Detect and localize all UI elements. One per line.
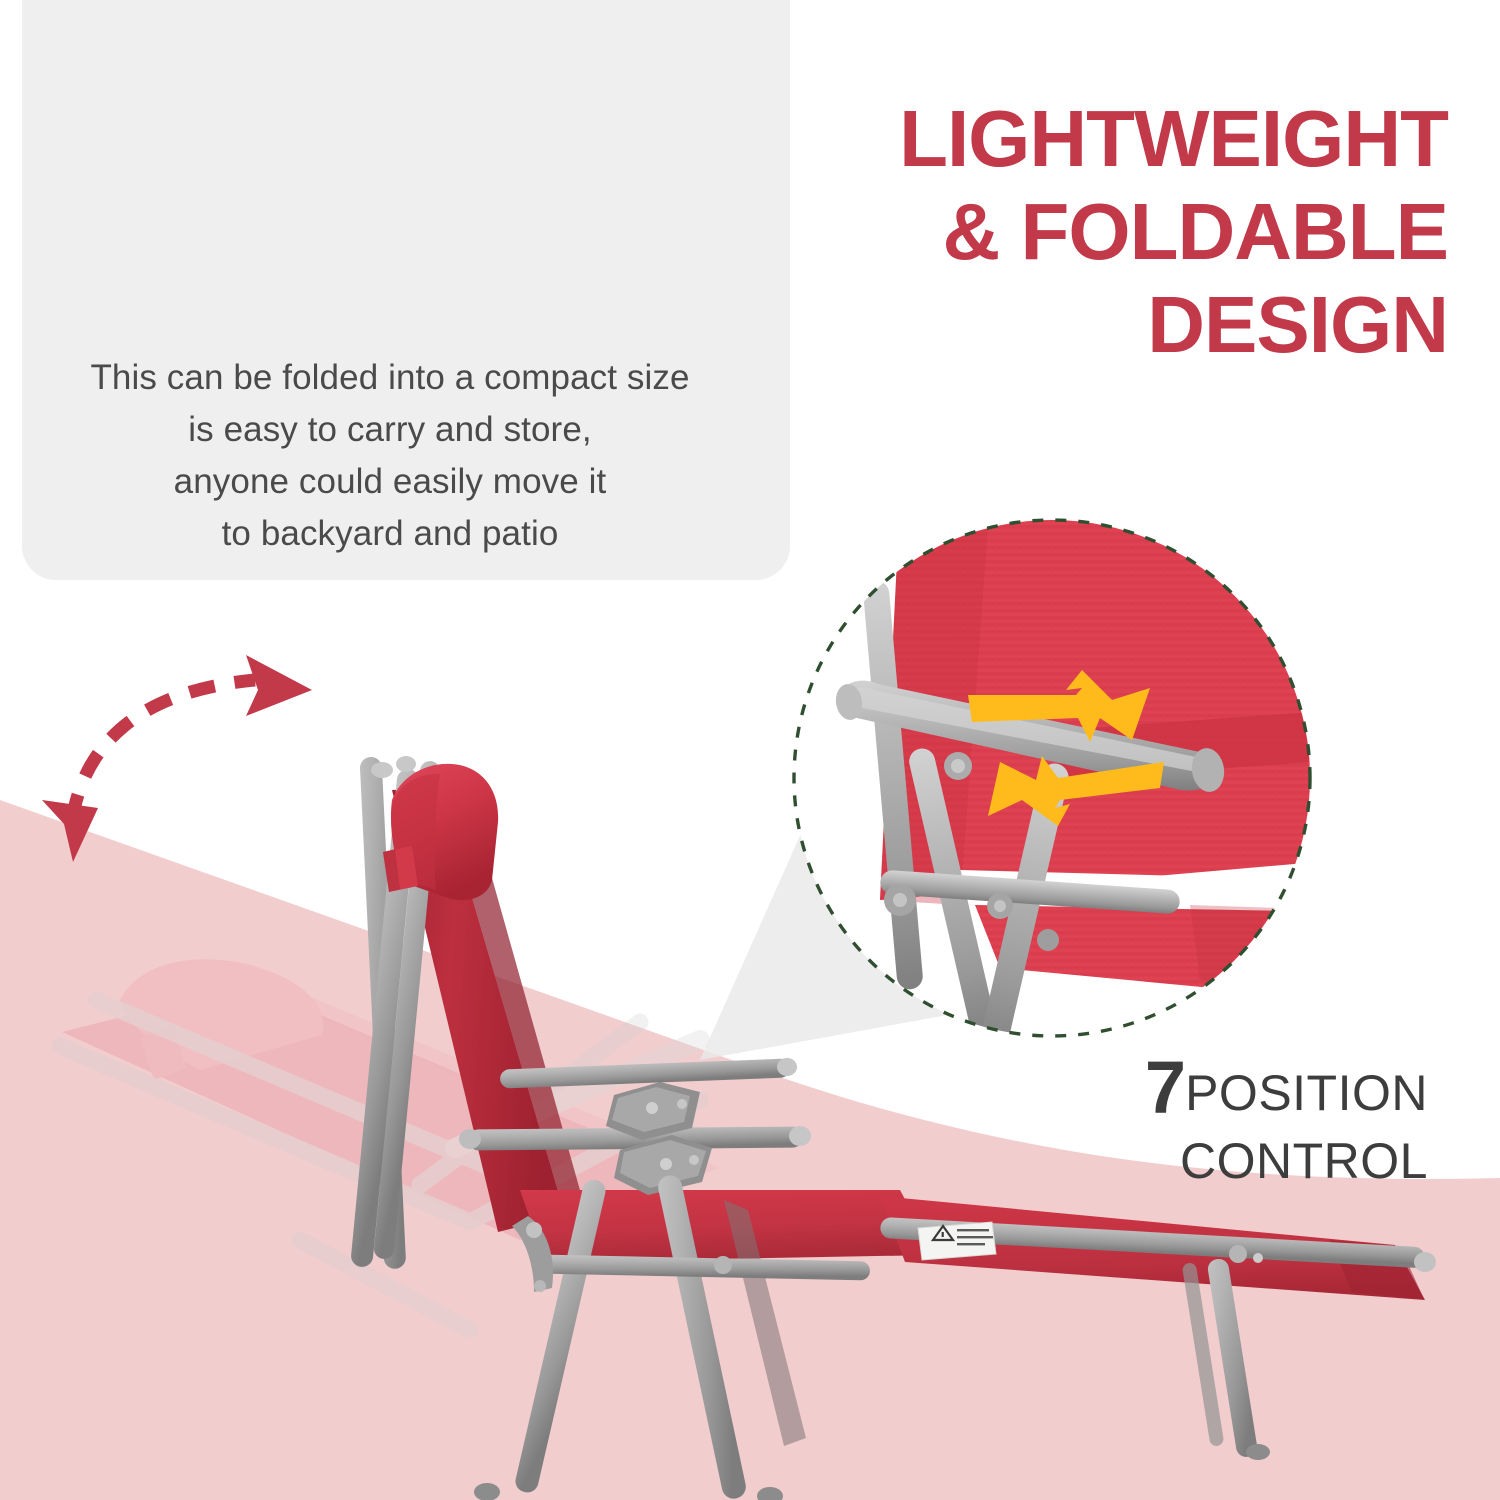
infographic-root: This can be folded into a compact size i… <box>0 0 1500 1500</box>
position-word: POSITION <box>1185 1065 1428 1121</box>
info-line-4: to backyard and patio <box>40 508 740 560</box>
info-line-2: is easy to carry and store, <box>40 404 740 456</box>
info-panel-text: This can be folded into a compact size i… <box>40 352 740 560</box>
position-control-feature: 7POSITION CONTROL <box>1008 1048 1428 1188</box>
position-control-line-1: 7POSITION <box>1008 1048 1428 1128</box>
info-line-3: anyone could easily move it <box>40 456 740 508</box>
headline-line-2: & FOLDABLE <box>728 185 1448 278</box>
position-control-line-2: CONTROL <box>1008 1134 1428 1188</box>
page-title: LIGHTWEIGHT & FOLDABLE DESIGN <box>728 92 1448 371</box>
position-count: 7 <box>1145 1046 1185 1129</box>
info-line-1: This can be folded into a compact size <box>40 352 740 404</box>
headline-line-3: DESIGN <box>728 278 1448 371</box>
headline-line-1: LIGHTWEIGHT <box>728 92 1448 185</box>
